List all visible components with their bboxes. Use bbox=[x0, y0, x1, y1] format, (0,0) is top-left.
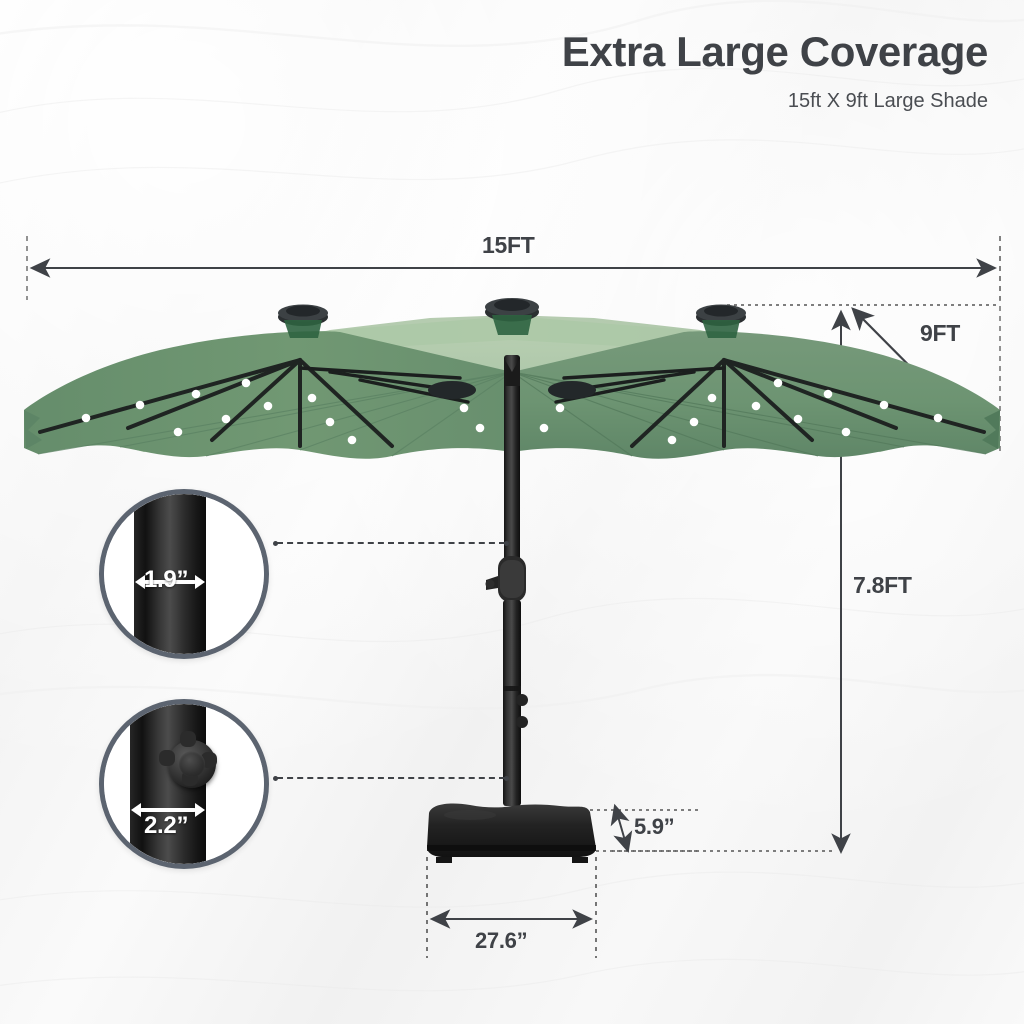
label-pole-diameter-1-9in: 1.9” bbox=[144, 566, 188, 594]
label-base-width-27-6in: 27.6” bbox=[475, 928, 527, 954]
knob-lobe-right bbox=[201, 752, 217, 768]
leader-dot-end bbox=[504, 541, 509, 546]
umbrella-base bbox=[427, 804, 596, 857]
base-foot-left bbox=[436, 857, 452, 863]
leader-line-pole-diameter bbox=[277, 542, 505, 544]
canopy-top-sheet bbox=[26, 315, 1000, 434]
canopy-ribs bbox=[40, 360, 984, 446]
crank-handle bbox=[486, 556, 527, 602]
knob-lobe-top bbox=[180, 731, 196, 747]
leader-dot-end bbox=[504, 776, 509, 781]
base-foot-right bbox=[572, 857, 588, 863]
header-block: Extra Large Coverage 15ft X 9ft Large Sh… bbox=[562, 30, 988, 113]
canopy-right-tip bbox=[982, 410, 1000, 449]
label-height-7-8ft: 7.8FT bbox=[853, 572, 912, 599]
led-lights bbox=[82, 379, 943, 445]
solar-cap-right bbox=[696, 305, 746, 339]
solar-cap-left bbox=[278, 305, 328, 339]
knob-lobe-bottom bbox=[182, 770, 198, 786]
left-hub bbox=[428, 381, 476, 399]
product-dimension-diagram: Extra Large Coverage 15ft X 9ft Large Sh… bbox=[0, 0, 1024, 1024]
canopy-left-dome bbox=[24, 331, 512, 458]
canopy-right-dome bbox=[512, 331, 1000, 458]
label-width-15ft: 15FT bbox=[482, 232, 534, 259]
right-hub bbox=[548, 381, 596, 399]
canopy-hub-struts bbox=[300, 368, 724, 402]
pole-knob-upper bbox=[516, 694, 528, 706]
canopy-top-plane bbox=[26, 316, 1000, 430]
detail-2-inner bbox=[104, 704, 264, 864]
pole-upper bbox=[504, 355, 520, 560]
solar-cap-center bbox=[485, 298, 539, 335]
pole-top-v bbox=[504, 358, 520, 386]
pole-knob-lower bbox=[516, 716, 528, 728]
label-depth-9ft: 9FT bbox=[920, 320, 960, 347]
leader-dot-start bbox=[273, 776, 278, 781]
detail-circle-pole-knob-diameter bbox=[99, 699, 269, 869]
measurement-height-7-8ft bbox=[612, 312, 841, 852]
solar-caps bbox=[278, 298, 746, 338]
page-title: Extra Large Coverage bbox=[562, 30, 988, 74]
canopy-left-seams bbox=[38, 372, 512, 456]
label-pole-knob-diameter-2-2in: 2.2” bbox=[144, 812, 188, 840]
knob-lobe-left bbox=[159, 750, 175, 766]
canopy-right-seams bbox=[512, 372, 986, 456]
leader-line-pole-knob bbox=[277, 777, 505, 779]
label-base-height-5-9in: 5.9” bbox=[634, 814, 674, 840]
canopy-left-tip bbox=[24, 410, 42, 449]
leader-dot-start bbox=[273, 541, 278, 546]
tightening-knob bbox=[168, 740, 216, 788]
canopy-top-plane-fill bbox=[60, 340, 966, 452]
page-subtitle: 15ft X 9ft Large Shade bbox=[562, 90, 988, 113]
